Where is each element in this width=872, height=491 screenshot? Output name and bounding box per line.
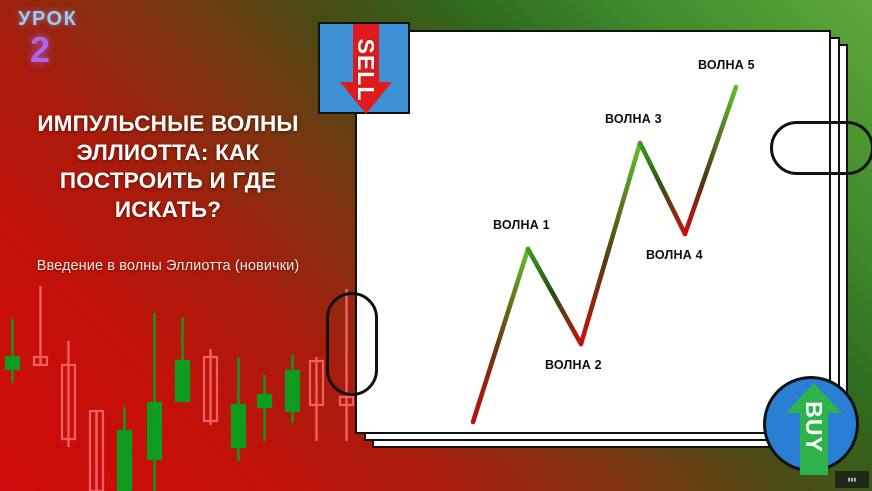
wave-label-4: ВОЛНА 4 [646, 248, 703, 262]
candle-8 [204, 349, 217, 425]
candle-4 [90, 411, 103, 491]
lesson-badge: УРОК 2 [18, 8, 77, 67]
candle-2 [34, 286, 47, 365]
right-pill-outline [770, 121, 872, 175]
wave-label-1: ВОЛНА 1 [493, 218, 550, 232]
title-line-1: ИМПУЛЬСНЫЕ ВОЛНЫ [8, 110, 328, 139]
up-arrow-icon [766, 379, 862, 475]
candle-1 [6, 319, 19, 383]
left-pill-outline [326, 292, 378, 396]
candle-11 [286, 355, 299, 423]
wave-segment-1 [473, 249, 528, 422]
sell-badge[interactable]: SELL [318, 22, 410, 114]
page-subtitle: Введение в волны Эллиотта (новички) [8, 258, 328, 274]
wave-label-3: ВОЛНА 3 [605, 112, 662, 126]
wave-segment-5 [685, 87, 736, 234]
candle-3 [62, 341, 75, 447]
wave-segment-2 [528, 249, 581, 344]
page-title: ИМПУЛЬСНЫЕ ВОЛНЫ ЭЛЛИОТТА: КАК ПОСТРОИТЬ… [8, 110, 328, 224]
lesson-number: 2 [30, 33, 77, 67]
wave-label-2: ВОЛНА 2 [545, 358, 602, 372]
buy-badge[interactable]: BUY [763, 376, 859, 472]
wave-segment-4 [640, 143, 685, 234]
candle-9 [232, 357, 245, 461]
title-line-2: ЭЛЛИОТТА: КАК [8, 139, 328, 168]
title-line-4: ИСКАТЬ? [8, 196, 328, 225]
candle-7 [176, 317, 189, 401]
lesson-word: УРОК [18, 8, 77, 31]
down-arrow-icon [320, 24, 412, 116]
candle-6 [148, 313, 161, 491]
watermark: ▮▮▮ [835, 471, 869, 488]
candle-12 [310, 357, 323, 441]
slide-canvas: ВОЛНА 1ВОЛНА 2ВОЛНА 3ВОЛНА 4ВОЛНА 5 SELL… [0, 0, 872, 491]
wave-segment-3 [581, 143, 640, 344]
elliott-wave-chart [355, 30, 831, 434]
candle-10 [258, 375, 271, 441]
title-line-3: ПОСТРОИТЬ И ГДЕ [8, 167, 328, 196]
wave-label-5: ВОЛНА 5 [698, 58, 755, 72]
candle-5 [118, 407, 131, 491]
